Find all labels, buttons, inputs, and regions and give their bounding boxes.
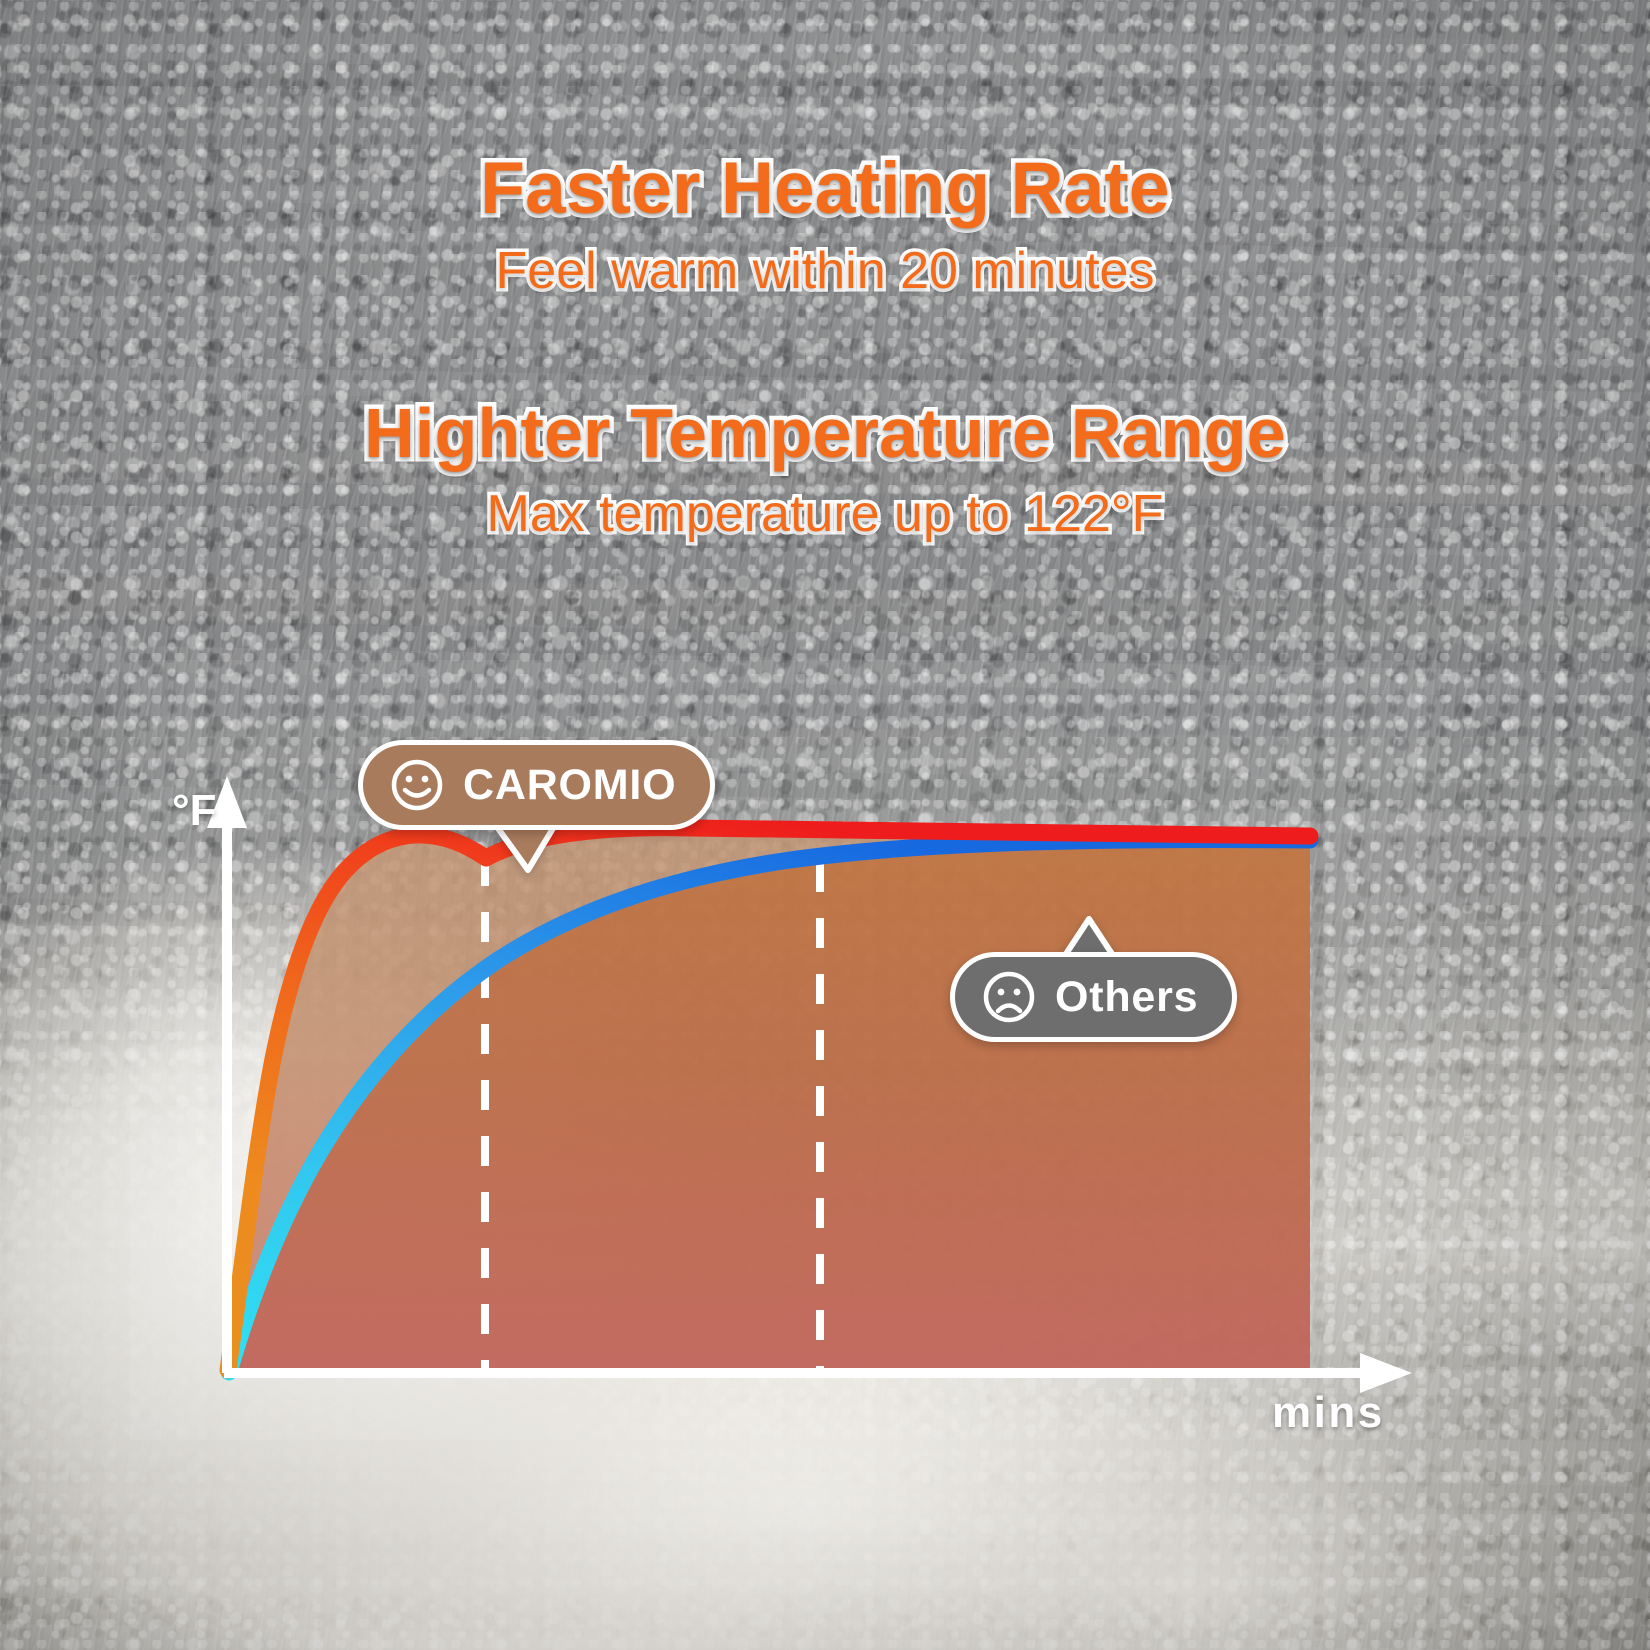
chart-svg <box>130 660 1440 1440</box>
infographic-canvas: Faster Heating Rate Feel warm within 20 … <box>0 0 1650 1650</box>
smiley-happy-icon <box>389 757 445 813</box>
headline-title-faster-heating: Faster Heating Rate <box>0 150 1650 227</box>
callout-others[interactable]: Others <box>950 952 1237 1042</box>
callout-caromio[interactable]: CAROMIO <box>358 740 715 830</box>
headline-spacer <box>0 227 1650 243</box>
callout-caromio-label: CAROMIO <box>463 761 676 810</box>
headline-block-faster-heating: Faster Heating Rate Feel warm within 20 … <box>0 150 1650 301</box>
x-axis-label: mins <box>1272 1388 1385 1438</box>
headline-subtitle-higher-temp: Max temperature up to 122°F <box>0 486 1650 543</box>
headline-block-higher-temp: Highter Temperature Range Max temperatur… <box>0 396 1650 543</box>
smiley-sad-icon <box>981 969 1037 1025</box>
headline-spacer <box>0 470 1650 486</box>
callout-others-label: Others <box>1055 973 1198 1022</box>
y-axis-label: °F <box>172 786 216 836</box>
heating-comparison-chart <box>130 660 1440 1440</box>
headline-title-higher-temp: Highter Temperature Range <box>0 396 1650 470</box>
headline-subtitle-faster-heating: Feel warm within 20 minutes <box>0 243 1650 300</box>
